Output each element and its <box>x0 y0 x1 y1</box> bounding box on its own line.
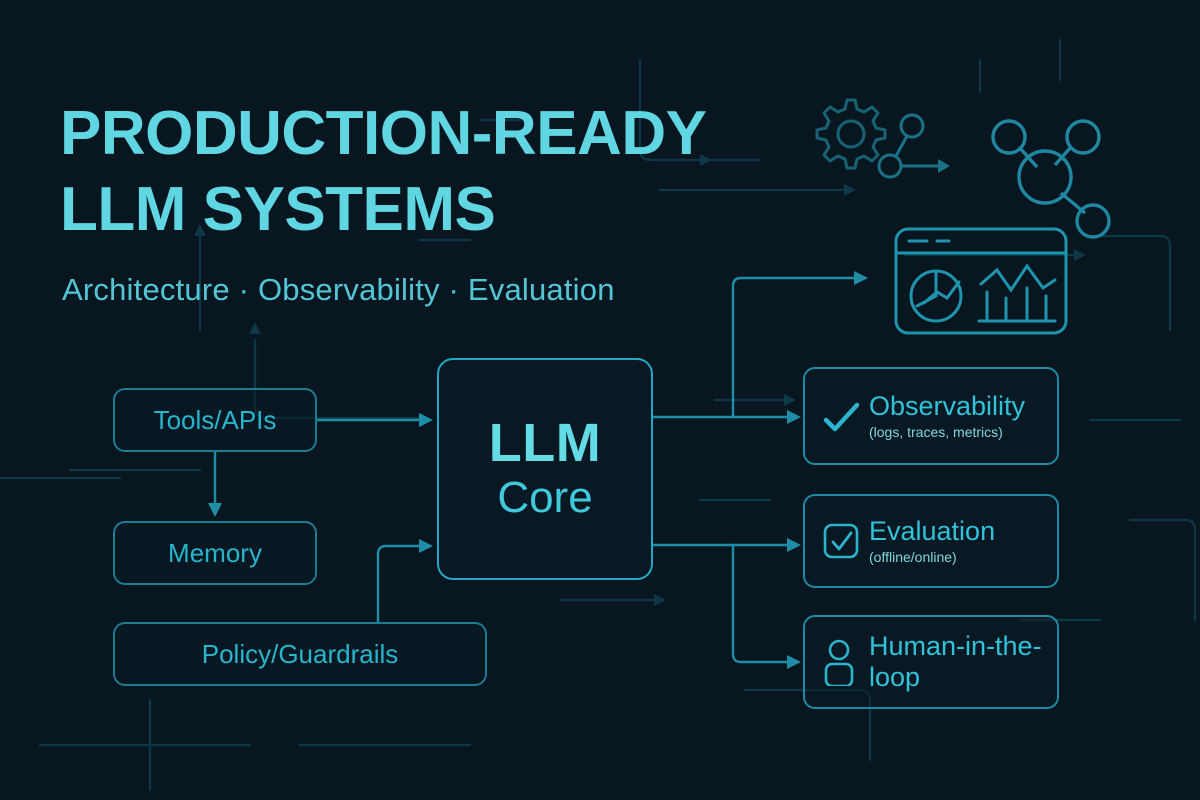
card-evaluation-subtitle: (offline/online) <box>869 548 957 566</box>
card-human-in-the-loop-title: Human-in-the-loop <box>869 631 1043 693</box>
node-tools-apis[interactable]: Tools/APIs <box>113 388 317 452</box>
dashboard-window-icon <box>893 226 1069 336</box>
page-title: PRODUCTION-READY LLM SYSTEMS <box>60 96 840 248</box>
card-human-in-the-loop[interactable]: Human-in-the-loop <box>803 615 1059 709</box>
node-llm-core-subtitle: Core <box>497 472 592 524</box>
card-observability-title: Observability <box>869 391 1025 421</box>
node-memory-label: Memory <box>168 538 262 569</box>
node-memory[interactable]: Memory <box>113 521 317 585</box>
node-tools-apis-label: Tools/APIs <box>154 405 277 436</box>
card-evaluation-title: Evaluation <box>869 516 995 546</box>
node-policy-guardrails[interactable]: Policy/Guardrails <box>113 622 487 686</box>
card-evaluation[interactable]: Evaluation (offline/online) <box>803 494 1059 588</box>
title-line-2: LLM SYSTEMS <box>60 172 840 248</box>
poster-canvas: PRODUCTION-READY LLM SYSTEMS Architectur… <box>0 0 1200 800</box>
page-subtitle: Architecture · Observability · Evaluatio… <box>62 272 615 308</box>
person-icon <box>819 638 863 686</box>
checkbox-checked-icon <box>819 517 863 565</box>
card-observability-subtitle: (logs, traces, metrics) <box>869 423 1003 441</box>
title-line-1: PRODUCTION-READY <box>60 99 706 168</box>
network-molecule-icon <box>975 105 1115 245</box>
node-llm-core[interactable]: LLM Core <box>437 358 653 580</box>
check-mark-icon <box>819 392 863 440</box>
node-llm-core-title: LLM <box>489 414 601 472</box>
card-observability[interactable]: Observability (logs, traces, metrics) <box>803 367 1059 465</box>
node-policy-guardrails-label: Policy/Guardrails <box>202 639 399 670</box>
